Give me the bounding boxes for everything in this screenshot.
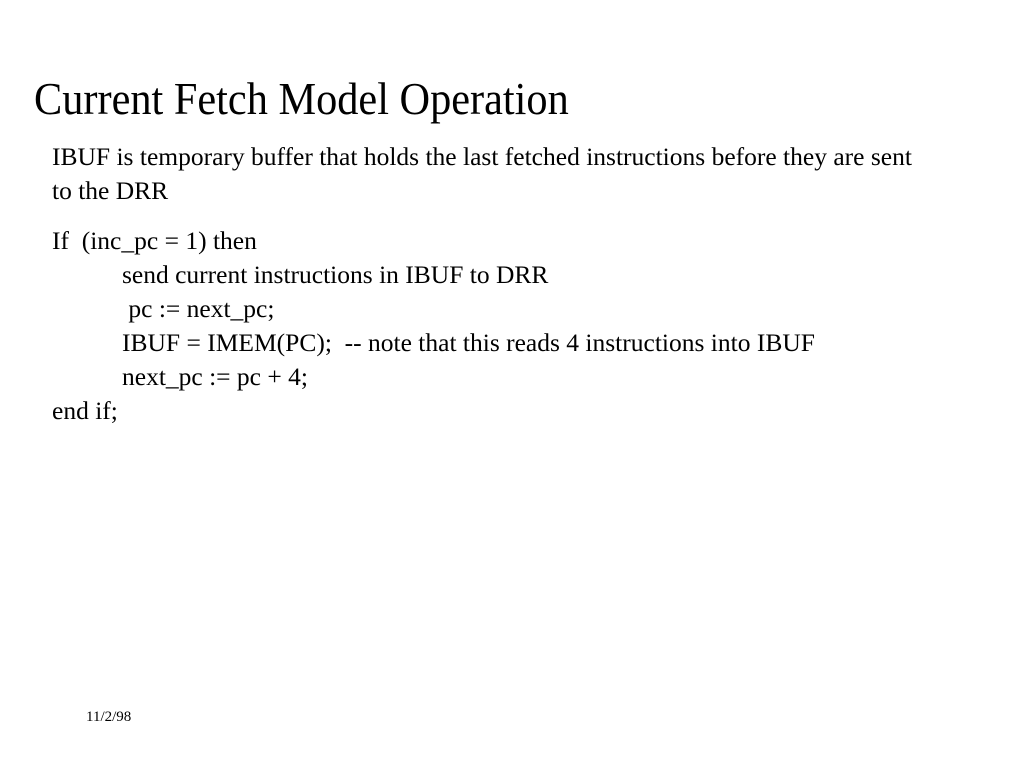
slide-body: IBUF is temporary buffer that holds the … xyxy=(52,140,932,428)
pseudocode-block: If (inc_pc = 1) then send current instru… xyxy=(52,224,932,428)
code-line-pc-assign: pc := next_pc; xyxy=(52,292,932,326)
code-line-next-pc: next_pc := pc + 4; xyxy=(52,360,932,394)
footer-date: 11/2/98 xyxy=(86,708,131,726)
intro-paragraph: IBUF is temporary buffer that holds the … xyxy=(52,140,924,208)
code-line-send: send current instructions in IBUF to DRR xyxy=(52,258,932,292)
slide: Current Fetch Model Operation IBUF is te… xyxy=(0,0,1024,768)
code-line-if: If (inc_pc = 1) then xyxy=(52,224,932,258)
page-title: Current Fetch Model Operation xyxy=(34,73,899,125)
code-line-end-if: end if; xyxy=(52,394,932,428)
code-line-ibuf-imem: IBUF = IMEM(PC); -- note that this reads… xyxy=(52,326,932,360)
